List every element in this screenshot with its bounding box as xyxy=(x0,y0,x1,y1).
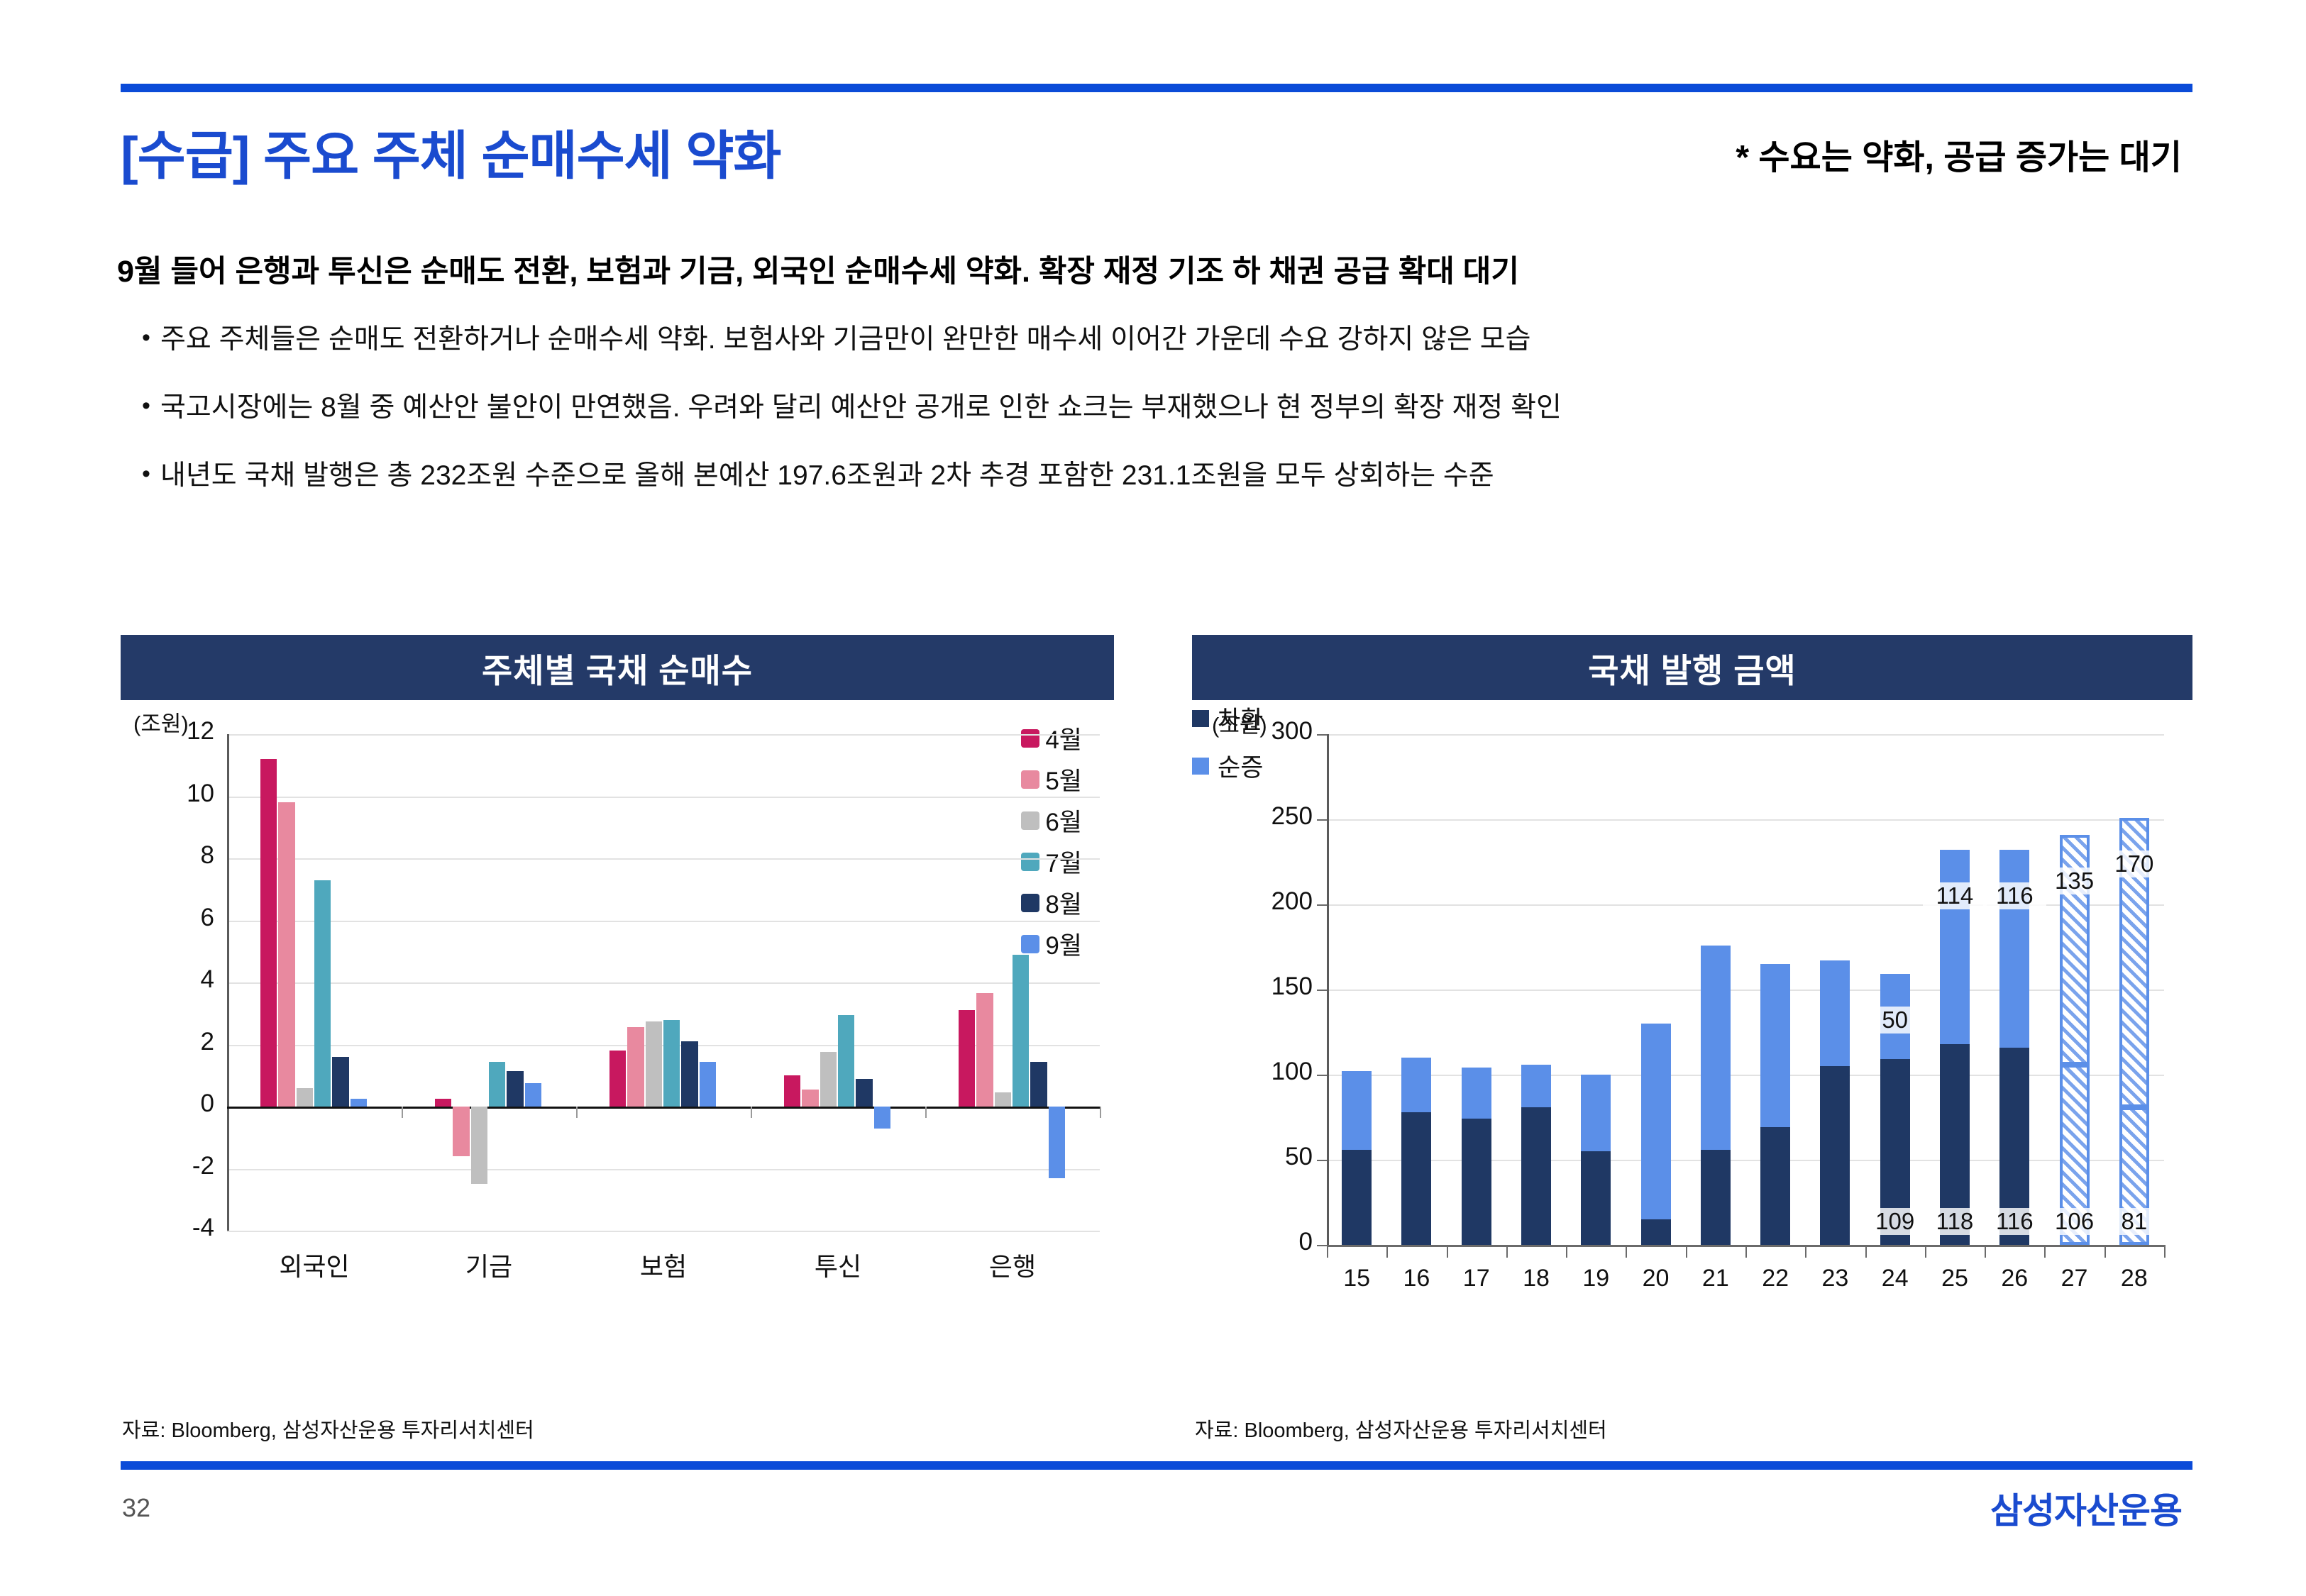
data-label-28-차환: 81 xyxy=(2102,1208,2166,1235)
legend-label: 7월 xyxy=(1045,843,1082,880)
bar-segment-18-순증 xyxy=(1521,1065,1551,1107)
x-axis-tick xyxy=(2104,1245,2106,1258)
footer-rule xyxy=(121,1461,2192,1470)
page-title: [수급] 주요 주체 순매수세 약화 xyxy=(121,113,780,189)
bar-은행-6월 xyxy=(995,1092,1011,1107)
data-label-27-순증: 135 xyxy=(2043,868,2106,894)
y-axis-tick xyxy=(1317,1245,1327,1246)
list-item: • 주요 주체들은 순매도 전환하거나 순매수세 약화. 보험사와 기금만이 완… xyxy=(142,323,2200,358)
legend-item-차환: 차환 xyxy=(1192,700,2192,736)
bar-보험-4월 xyxy=(609,1051,626,1107)
bar-보험-5월 xyxy=(627,1027,644,1107)
chart-panel-right: 국채 발행 금액 (조원) 차환순증 300250200150100500151… xyxy=(1192,635,2192,1409)
bullet-dot: • xyxy=(142,391,160,421)
legend-item-7월: 7월 xyxy=(1021,843,1082,880)
bar-은행-9월 xyxy=(1049,1107,1065,1178)
bar-은행-5월 xyxy=(976,993,993,1107)
data-label-25-차환: 118 xyxy=(1923,1208,1986,1235)
bar-segment-22-차환 xyxy=(1760,1127,1790,1245)
legend-swatch-icon xyxy=(1021,811,1039,830)
y-axis-tick-label: 0 xyxy=(136,1090,214,1118)
chart-legend-left: 4월5월6월7월8월9월 xyxy=(1021,720,1082,967)
x-axis-tick-label: 19 xyxy=(1566,1265,1626,1292)
x-axis-tick xyxy=(1805,1245,1806,1258)
bar-segment-25-순증 xyxy=(1940,850,1970,1044)
legend-item-6월: 6월 xyxy=(1021,802,1082,838)
bar-기금-7월 xyxy=(489,1062,505,1107)
bar-segment-21-순증 xyxy=(1701,946,1731,1150)
bar-투신-7월 xyxy=(838,1015,854,1107)
chart-panel-left: 주체별 국채 순매수 (조원) 4월5월6월7월8월9월 121086420-2… xyxy=(121,635,1114,1409)
x-axis-tick xyxy=(2164,1245,2166,1258)
chart-legend-right: 차환순증 xyxy=(1192,700,2192,784)
bar-segment-19-차환 xyxy=(1581,1151,1611,1245)
x-axis-tick xyxy=(2044,1245,2046,1258)
bar-segment-23-차환 xyxy=(1820,1066,1850,1245)
bar-투신-6월 xyxy=(820,1052,837,1107)
page-number: 32 xyxy=(122,1493,150,1523)
grid-line xyxy=(1327,734,2164,736)
x-axis-tick-label: 28 xyxy=(2104,1265,2164,1292)
y-axis-tick xyxy=(1317,1160,1327,1161)
bar-은행-7월 xyxy=(1013,955,1029,1107)
data-label-28-순증: 170 xyxy=(2102,850,2166,877)
legend-swatch-icon xyxy=(1021,894,1039,912)
bar-segment-21-차환 xyxy=(1701,1150,1731,1245)
bar-외국인-6월 xyxy=(297,1088,313,1107)
bar-보험-9월 xyxy=(700,1062,716,1107)
bullet-dot: • xyxy=(142,323,160,353)
x-axis-tick-label: 16 xyxy=(1386,1265,1446,1292)
bar-외국인-4월 xyxy=(260,759,277,1107)
y-axis-tick-label: 300 xyxy=(1235,717,1313,746)
lead-summary: 9월 들어 은행과 투신은 순매도 전환, 보험과 기금, 외국인 순매수세 약… xyxy=(117,247,1519,291)
y-axis-tick-label: 12 xyxy=(136,717,214,746)
header-note: * 수요는 약화, 공급 증가는 대기 xyxy=(1736,129,2182,179)
data-label-24-차환: 109 xyxy=(1863,1208,1926,1235)
x-axis-tick-label: 24 xyxy=(1865,1265,1925,1292)
x-axis-tick xyxy=(1626,1245,1627,1258)
legend-swatch-icon xyxy=(1192,710,1209,727)
x-axis-category-label: 기금 xyxy=(402,1246,576,1283)
legend-label: 4월 xyxy=(1045,720,1082,756)
legend-item-5월: 5월 xyxy=(1021,761,1082,797)
legend-swatch-icon xyxy=(1021,729,1039,748)
x-axis-tick xyxy=(576,1107,578,1118)
grid-line xyxy=(1327,1160,2164,1161)
x-axis-tick xyxy=(1386,1245,1388,1258)
slide-page: [수급] 주요 주체 순매수세 약화 * 수요는 약화, 공급 증가는 대기 9… xyxy=(0,0,2306,1596)
data-label-27-차환: 106 xyxy=(2043,1208,2106,1235)
data-label-24-순증: 50 xyxy=(1863,1007,1926,1033)
y-axis-tick xyxy=(1317,904,1327,906)
data-label-26-순증: 116 xyxy=(1983,882,2046,909)
grid-line xyxy=(227,1231,1100,1232)
bar-외국인-9월 xyxy=(351,1099,367,1107)
legend-swatch-icon xyxy=(1021,770,1039,789)
grid-line xyxy=(1327,819,2164,821)
bar-외국인-7월 xyxy=(314,880,331,1107)
bar-segment-20-차환 xyxy=(1641,1219,1671,1245)
bar-segment-18-차환 xyxy=(1521,1107,1551,1245)
bar-보험-8월 xyxy=(681,1041,697,1107)
legend-item-4월: 4월 xyxy=(1021,720,1082,756)
x-axis-tick-label: 26 xyxy=(1985,1265,2044,1292)
y-axis-tick-label: 50 xyxy=(1235,1143,1313,1171)
x-axis-category-label: 보험 xyxy=(576,1246,751,1283)
bar-기금-4월 xyxy=(435,1099,451,1107)
y-axis-tick-label: 2 xyxy=(136,1028,214,1056)
chart-area-right: (조원) 차환순증 300250200150100500151617181920… xyxy=(1192,700,2192,1409)
bar-기금-6월 xyxy=(471,1107,487,1184)
legend-item-8월: 8월 xyxy=(1021,885,1082,921)
bullet-text: 국고시장에는 8월 중 예산안 불안이 만연했음. 우려와 달리 예산안 공개로… xyxy=(160,391,1562,426)
y-axis-tick xyxy=(1317,1075,1327,1076)
x-axis-tick-label: 25 xyxy=(1925,1265,1985,1292)
bar-은행-4월 xyxy=(959,1010,975,1107)
bar-segment-22-순증 xyxy=(1760,964,1790,1127)
x-axis-tick xyxy=(1865,1245,1867,1258)
bar-기금-5월 xyxy=(453,1107,469,1156)
legend-swatch-icon xyxy=(1192,758,1209,775)
bar-기금-9월 xyxy=(525,1083,541,1107)
y-axis-tick xyxy=(1317,819,1327,821)
x-axis-tick xyxy=(1686,1245,1687,1258)
y-axis-tick-label: 4 xyxy=(136,965,214,994)
bar-segment-19-순증 xyxy=(1581,1075,1611,1151)
legend-swatch-icon xyxy=(1021,853,1039,871)
bar-은행-8월 xyxy=(1030,1062,1047,1107)
grid-line xyxy=(227,734,1100,736)
x-axis-category-label: 외국인 xyxy=(227,1246,402,1283)
legend-label: 8월 xyxy=(1045,885,1082,921)
y-axis-tick xyxy=(1317,990,1327,991)
grid-line xyxy=(1327,990,2164,991)
legend-item-9월: 9월 xyxy=(1021,926,1082,962)
bar-segment-20-순증 xyxy=(1641,1024,1671,1219)
y-axis-line xyxy=(1327,734,1329,1245)
panel-title-right: 국채 발행 금액 xyxy=(1192,635,2192,700)
grid-line xyxy=(227,921,1100,922)
x-axis-tick xyxy=(402,1107,403,1118)
list-item: • 국고시장에는 8월 중 예산안 불안이 만연했음. 우려와 달리 예산안 공… xyxy=(142,391,2200,426)
legend-label: 순증 xyxy=(1218,748,1263,784)
bar-투신-8월 xyxy=(856,1079,872,1107)
y-axis-tick xyxy=(1317,734,1327,736)
grid-line xyxy=(227,797,1100,798)
x-axis-tick-label: 20 xyxy=(1626,1265,1685,1292)
x-axis-category-label: 투신 xyxy=(751,1246,925,1283)
x-axis-tick xyxy=(1745,1245,1747,1258)
y-axis-tick-label: 6 xyxy=(136,904,214,932)
x-axis-tick-label: 17 xyxy=(1447,1265,1506,1292)
bar-투신-9월 xyxy=(874,1107,890,1129)
bar-segment-15-차환 xyxy=(1342,1150,1372,1245)
x-axis-tick-label: 23 xyxy=(1805,1265,1865,1292)
x-axis-tick xyxy=(1566,1245,1567,1258)
y-axis-tick-label: 100 xyxy=(1235,1058,1313,1086)
x-axis-tick xyxy=(925,1107,927,1118)
grid-line xyxy=(227,1169,1100,1170)
bar-segment-15-순증 xyxy=(1342,1071,1372,1149)
bullet-list: • 주요 주체들은 순매도 전환하거나 순매수세 약화. 보험사와 기금만이 완… xyxy=(142,323,2200,526)
header-rule xyxy=(121,84,2192,92)
bullet-text: 내년도 국채 발행은 총 232조원 수준으로 올해 본예산 197.6조원과 … xyxy=(160,459,1494,494)
x-axis-tick-label: 18 xyxy=(1506,1265,1566,1292)
panel-title-left: 주체별 국채 순매수 xyxy=(121,635,1114,700)
data-label-25-순증: 114 xyxy=(1923,882,1986,909)
bullet-text: 주요 주체들은 순매도 전환하거나 순매수세 약화. 보험사와 기금만이 완만한… xyxy=(160,323,1531,358)
legend-label: 5월 xyxy=(1045,761,1082,797)
x-axis-tick xyxy=(1327,1245,1328,1258)
grid-line xyxy=(1327,1075,2164,1076)
bar-segment-16-순증 xyxy=(1401,1058,1431,1112)
bar-보험-6월 xyxy=(646,1021,662,1107)
source-note-right: 자료: Bloomberg, 삼성자산운용 투자리서치센터 xyxy=(1195,1414,1607,1443)
y-axis-tick-label: -2 xyxy=(136,1152,214,1180)
y-axis-tick-label: 0 xyxy=(1235,1228,1313,1256)
x-axis-tick-label: 21 xyxy=(1686,1265,1745,1292)
x-axis-tick-label: 22 xyxy=(1745,1265,1805,1292)
bar-외국인-5월 xyxy=(278,802,294,1107)
chart-area-left: (조원) 4월5월6월7월8월9월 121086420-2-4외국인기금보험투신… xyxy=(121,700,1114,1409)
bar-segment-26-순증 xyxy=(1999,850,2029,1047)
y-axis-tick-label: 150 xyxy=(1235,972,1313,1001)
x-axis-tick xyxy=(1985,1245,1986,1258)
x-axis-tick xyxy=(751,1107,752,1118)
bar-기금-8월 xyxy=(507,1071,523,1107)
company-logo: 삼성자산운용 xyxy=(1990,1483,2182,1534)
x-axis-tick-label: 27 xyxy=(2044,1265,2104,1292)
x-axis-tick xyxy=(1100,1107,1101,1118)
bar-segment-17-순증 xyxy=(1462,1068,1491,1119)
legend-label: 6월 xyxy=(1045,802,1082,838)
x-axis-tick xyxy=(1447,1245,1448,1258)
source-note-left: 자료: Bloomberg, 삼성자산운용 투자리서치센터 xyxy=(122,1414,534,1443)
zero-line xyxy=(227,1107,1100,1109)
data-label-26-차환: 116 xyxy=(1983,1208,2046,1235)
bar-투신-5월 xyxy=(802,1090,818,1107)
bar-외국인-8월 xyxy=(332,1057,348,1107)
list-item: • 내년도 국채 발행은 총 232조원 수준으로 올해 본예산 197.6조원… xyxy=(142,459,2200,494)
x-axis-tick-label: 15 xyxy=(1327,1265,1386,1292)
grid-line xyxy=(227,982,1100,984)
legend-label: 9월 xyxy=(1045,926,1082,962)
legend-item-순증: 순증 xyxy=(1192,748,2192,784)
bar-segment-16-차환 xyxy=(1401,1112,1431,1245)
x-axis-tick xyxy=(1506,1245,1508,1258)
bar-segment-17-차환 xyxy=(1462,1119,1491,1245)
legend-swatch-icon xyxy=(1021,935,1039,953)
bar-투신-4월 xyxy=(784,1075,800,1107)
bullet-dot: • xyxy=(142,459,160,489)
y-axis-tick-label: 10 xyxy=(136,780,214,808)
bar-segment-23-순증 xyxy=(1820,960,1850,1066)
y-axis-line xyxy=(227,734,229,1231)
y-axis-tick-label: 200 xyxy=(1235,887,1313,916)
x-axis-tick xyxy=(1925,1245,1926,1258)
y-axis-tick-label: 250 xyxy=(1235,802,1313,831)
x-axis-category-label: 은행 xyxy=(925,1246,1100,1283)
grid-line xyxy=(227,858,1100,860)
bar-보험-7월 xyxy=(663,1020,680,1107)
y-axis-tick-label: 8 xyxy=(136,841,214,870)
y-axis-tick-label: -4 xyxy=(136,1214,214,1242)
